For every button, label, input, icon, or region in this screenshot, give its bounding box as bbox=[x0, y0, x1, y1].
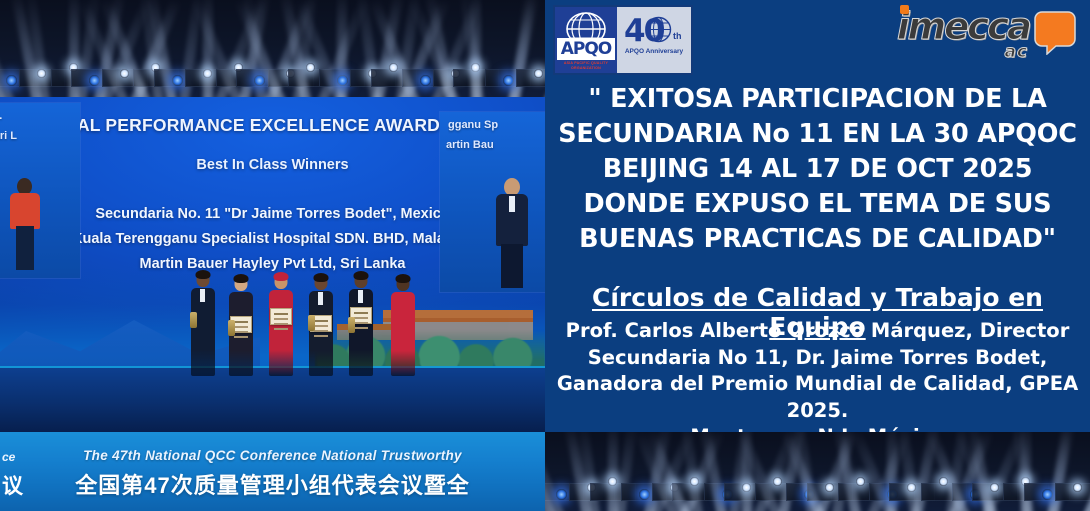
headline-line: BEIJING 14 AL 17 DE OCT 2025 bbox=[553, 152, 1082, 187]
anniversary-caption: APQO Anniversary bbox=[617, 48, 691, 55]
imecca-logo: imecca ac bbox=[897, 8, 1076, 60]
anniversary-suffix: th bbox=[673, 31, 682, 41]
stage-lamp bbox=[608, 477, 617, 486]
award-certificate bbox=[270, 308, 292, 325]
stage-lights-top bbox=[0, 0, 545, 97]
imecca-speech-bubble-icon bbox=[1034, 9, 1076, 55]
led-banner-english: The 47th National QCC Conference Nationa… bbox=[0, 448, 545, 463]
apqo-footer-text: ASIA PACIFIC QUALITY ORGANIZATION bbox=[557, 60, 615, 72]
apqo-acronym: APQO bbox=[557, 38, 615, 60]
recipient-hair bbox=[234, 274, 249, 283]
award-recipient bbox=[346, 273, 376, 376]
award-trophy bbox=[190, 312, 197, 328]
award-recipient bbox=[306, 275, 336, 376]
logo-row: APQO ASIA PACIFIC QUALITY ORGANIZATION 4… bbox=[545, 0, 1090, 82]
side-screen-left-caption: SDN. bbox=[0, 107, 78, 125]
award-recipient bbox=[188, 272, 218, 376]
stage-lamp bbox=[1073, 483, 1082, 492]
award-trophy bbox=[348, 317, 355, 333]
headline-line: DONDE EXPUSO EL TEMA DE SUS bbox=[553, 187, 1082, 222]
recipient-shirt bbox=[200, 289, 205, 302]
stage-lamp bbox=[556, 489, 567, 500]
headline-line: " EXITOSA PARTICIPACION DE LA bbox=[553, 82, 1082, 117]
credit-line: Ganadora del Premio Mundial de Calidad, … bbox=[551, 371, 1084, 424]
imecca-wordmark: imecca bbox=[897, 8, 1030, 46]
recipient-hair bbox=[396, 274, 411, 283]
speaker-figure-right bbox=[492, 178, 532, 288]
award-recipient bbox=[226, 276, 256, 376]
stage-lamp bbox=[306, 63, 315, 72]
stage-lamp bbox=[1042, 489, 1053, 500]
recipient-body bbox=[391, 292, 415, 376]
recipient-hair bbox=[314, 273, 329, 282]
apqo-40th-anniversary-emblem: 40 th APQO Anniversary bbox=[617, 7, 691, 73]
stage-lamp bbox=[990, 483, 999, 492]
stage-lamp bbox=[534, 69, 543, 78]
award-recipient bbox=[266, 274, 296, 376]
side-screen-left: SDN. td, Sri L bbox=[0, 103, 80, 278]
award-trophy bbox=[228, 320, 235, 336]
speaker-figure-left bbox=[8, 178, 42, 270]
figure-skirt bbox=[16, 226, 34, 270]
recipient-body bbox=[269, 290, 293, 376]
figure-trousers bbox=[501, 244, 523, 288]
apqo-acronym-text: APQO bbox=[561, 39, 612, 59]
figure-jacket bbox=[10, 193, 40, 229]
stage-lamp bbox=[89, 75, 100, 86]
credits-block: Prof. Carlos Alberto Orozco Márquez, Dir… bbox=[551, 318, 1084, 451]
information-panel: APQO ASIA PACIFIC QUALITY ORGANIZATION 4… bbox=[545, 0, 1090, 511]
side-screen-right: gganu Sp artin Bau bbox=[440, 112, 545, 292]
led-banner-chinese: 全国第47次质量管理小组代表会议暨全 bbox=[0, 468, 545, 500]
anniversary-globe-icon bbox=[645, 16, 672, 43]
recipient-hair bbox=[196, 270, 211, 279]
event-photo: GLOBAL PERFORMANCE EXCELLENCE AWARDS (GP… bbox=[0, 0, 545, 511]
side-screen-right-caption: gganu Sp bbox=[448, 116, 545, 134]
stage-lamp bbox=[742, 483, 751, 492]
side-screen-left-caption-2: td, Sri L bbox=[0, 127, 78, 145]
stage-lights-bottom bbox=[545, 432, 1090, 511]
side-screen-right-caption-2: artin Bau bbox=[446, 136, 545, 154]
stage-lamp bbox=[639, 489, 650, 500]
headline-line: BUENAS PRACTICAS DE CALIDAD" bbox=[553, 222, 1082, 257]
recipient-shirt bbox=[358, 290, 363, 303]
stage-lamp bbox=[503, 75, 514, 86]
led-conference-banner: ce 议 The 47th National QCC Conference Na… bbox=[0, 432, 545, 511]
award-trophy bbox=[308, 315, 315, 331]
light-beam bbox=[608, 432, 618, 511]
figure-shirt bbox=[509, 196, 515, 212]
recipient-shirt bbox=[318, 292, 323, 305]
imecca-ac-text: ac bbox=[1004, 42, 1028, 62]
recipient-hair bbox=[354, 271, 369, 280]
headline-line: SECUNDARIA No 11 EN LA 30 APQOC bbox=[553, 117, 1082, 152]
stage-lamp bbox=[420, 75, 431, 86]
presentation-slide: GLOBAL PERFORMANCE EXCELLENCE AWARDS (GP… bbox=[0, 0, 1090, 511]
apqo-emblem: APQO ASIA PACIFIC QUALITY ORGANIZATION bbox=[555, 7, 617, 73]
stage-lamp bbox=[773, 477, 782, 486]
imecca-dot-icon bbox=[900, 5, 909, 14]
award-recipient bbox=[388, 276, 418, 376]
stage-lamp bbox=[337, 75, 348, 86]
apqo-logo: APQO ASIA PACIFIC QUALITY ORGANIZATION 4… bbox=[553, 5, 693, 75]
stage-floor bbox=[0, 368, 545, 432]
stage-lamp bbox=[203, 69, 212, 78]
stage-lamp bbox=[172, 75, 183, 86]
stage-lamp bbox=[856, 477, 865, 486]
stage-lamp bbox=[825, 483, 834, 492]
credit-line: Prof. Carlos Alberto Orozco Márquez, Dir… bbox=[551, 318, 1084, 345]
recipient-hair bbox=[274, 272, 289, 281]
stage-lamp bbox=[6, 75, 17, 86]
headline: " EXITOSA PARTICIPACION DE LA SECUNDARIA… bbox=[553, 82, 1082, 257]
credit-line: Secundaria No 11, Dr. Jaime Torres Bodet… bbox=[551, 345, 1084, 372]
